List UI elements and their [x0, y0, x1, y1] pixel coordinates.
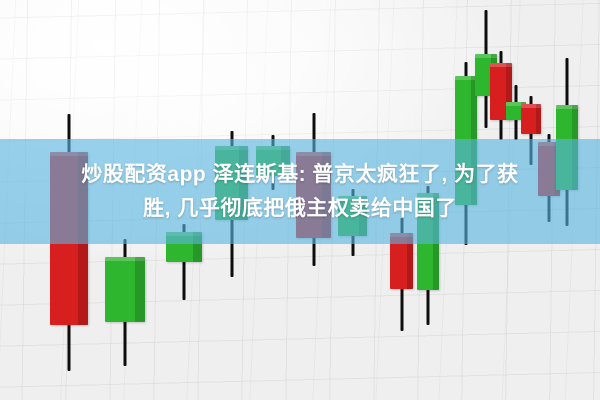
headline-banner: 炒股配资app 泽连斯基: 普京太疯狂了, 为了获 胜, 几乎彻底把俄主权卖给中…: [0, 139, 600, 244]
screenshot-root: 炒股配资app 泽连斯基: 普京太疯狂了, 为了获 胜, 几乎彻底把俄主权卖给中…: [0, 0, 600, 400]
candlestick-body-up: [105, 257, 145, 322]
headline-line-2: 胜, 几乎彻底把俄主权卖给中国了: [143, 192, 457, 226]
headline-line-1: 炒股配资app 泽连斯基: 普京太疯狂了, 为了获: [81, 158, 518, 192]
